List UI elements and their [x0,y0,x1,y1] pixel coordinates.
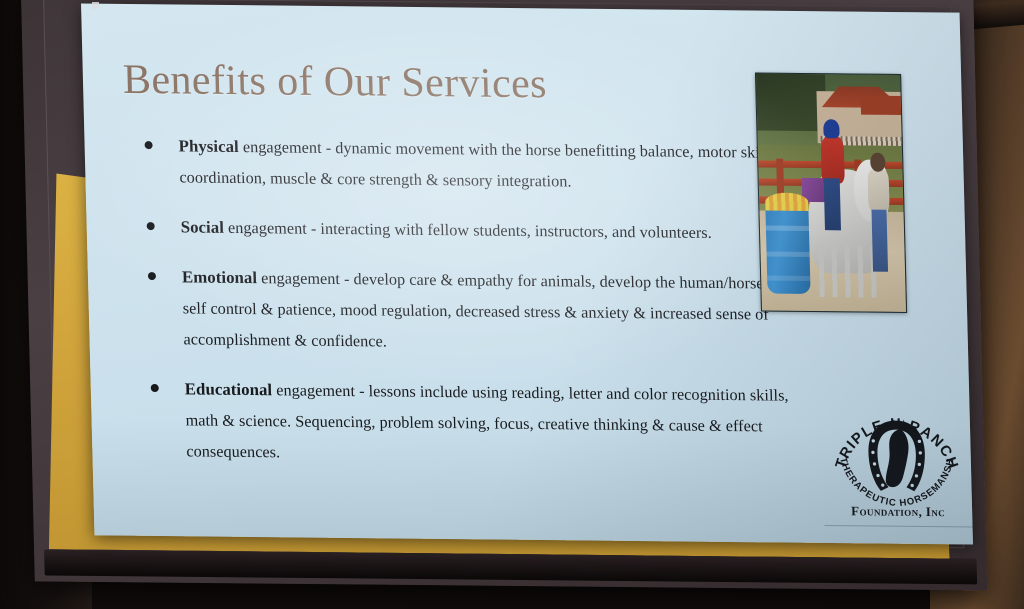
bullet-lead: Physical [178,136,239,156]
slide-bullet-list: Physical engagement - dynamic movement w… [112,130,821,492]
bullet-dot-icon [151,384,159,392]
bullet-dot-icon [147,222,155,230]
slide-canvas: Benefits of Our Services Physical engage… [81,3,973,544]
photo-rider-torso [821,136,845,184]
bullet-body: engagement - interacting with fellow stu… [224,219,712,242]
projected-slide: Benefits of Our Services Physical engage… [81,3,973,544]
list-item: Educational engagement - lessons include… [118,373,821,474]
bullet-lead: Educational [185,379,273,399]
bullet-dot-icon [145,141,153,149]
slide-title: Benefits of Our Services [122,56,547,108]
bullet-text: Emotional engagement - develop care & em… [182,261,819,362]
bullet-lead: Emotional [182,267,258,287]
photo-barrel-contents [765,192,809,211]
bullet-text: Educational engagement - lessons include… [184,373,821,474]
photo-trees [756,74,827,132]
bullet-body: engagement - dynamic movement with the h… [179,138,779,190]
list-item: Emotional engagement - develop care & em… [116,261,819,362]
screen-artifact [92,2,99,9]
photo-horse-leader-torso [868,169,889,212]
bullet-text: Social engagement - interacting with fel… [180,211,815,250]
photo-horse-legs [818,245,877,298]
slide-photo-horseback-riding [755,73,907,313]
logo-caption: Foundation, Inc [834,503,962,520]
photo-horse-leader-head [870,153,885,172]
bullet-dot-icon [148,272,156,280]
photo-house-roof-wing [860,96,904,115]
screenshot-stage: Benefits of Our Services Physical engage… [0,0,1024,609]
logo-divider [824,525,972,528]
photo-horse-leader-legs [872,210,888,272]
photo-rider-legs [823,178,840,230]
list-item: Physical engagement - dynamic movement w… [112,130,814,200]
bullet-body: engagement - lessons include using readi… [185,381,788,461]
bullet-text: Physical engagement - dynamic movement w… [178,130,814,200]
bullet-lead: Social [180,217,224,236]
photo-blue-barrel [765,204,810,294]
bullet-body: engagement - develop care & empathy for … [183,269,805,350]
photo-rider-helmet [823,119,839,138]
list-item: Social engagement - interacting with fel… [114,211,815,250]
